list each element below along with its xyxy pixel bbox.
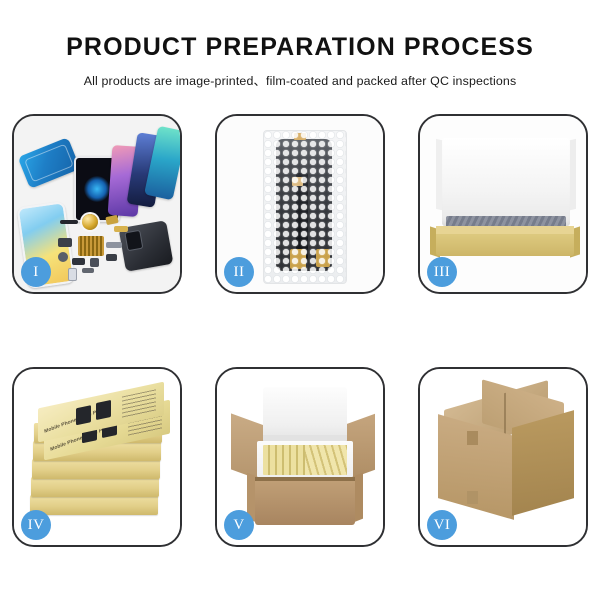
box-label-spec-lines — [122, 389, 156, 418]
part-camera-ring — [58, 252, 68, 262]
part-bracket-strip — [106, 242, 122, 248]
box-stack: Mobile Phone Spare Parts Mobile Phone Sp… — [28, 391, 170, 531]
step-panel-4[interactable]: Mobile Phone Spare Parts Mobile Phone Sp… — [12, 367, 182, 547]
bubble-texture — [264, 131, 346, 283]
step-badge-1: I — [21, 257, 51, 287]
carton-front-panel — [255, 477, 355, 525]
step-badge-5: V — [224, 510, 254, 540]
part-flex-strip — [60, 220, 78, 224]
part-connector — [72, 258, 85, 265]
part-speaker — [90, 258, 99, 267]
page-title: PRODUCT PREPARATION PROCESS — [0, 34, 600, 62]
part-sim-tray — [68, 268, 77, 281]
gold-coil-part — [82, 214, 98, 230]
step-badge-2: II — [224, 257, 254, 287]
header: PRODUCT PREPARATION PROCESS All products… — [0, 0, 600, 89]
step-panel-2[interactable]: II — [215, 114, 385, 294]
yellow-boxes-in-carton — [305, 445, 347, 475]
steps-grid: I II — [12, 114, 588, 547]
box-label-phone-image — [76, 405, 91, 425]
part-gold-bracket — [114, 226, 128, 232]
stacked-box — [30, 495, 158, 515]
carton-tape-upper — [467, 431, 478, 445]
product-preparation-process-infographic: PRODUCT PREPARATION PROCESS All products… — [0, 0, 600, 600]
step-panel-3[interactable]: III — [418, 114, 588, 294]
box-label-phone-image — [96, 400, 111, 420]
stacked-box — [32, 459, 160, 479]
carton-side-face — [512, 410, 574, 516]
step-badge-6: VI — [427, 510, 457, 540]
step-panel-5[interactable]: V — [215, 367, 385, 547]
blue-back-cover — [18, 137, 81, 189]
part-gold-clip — [105, 215, 118, 225]
gold-contact-pad — [78, 236, 104, 256]
carton-tape-lower — [467, 491, 478, 504]
part-module — [58, 238, 72, 247]
page-subtitle: All products are image-printed、film-coat… — [0, 71, 600, 89]
stacked-box — [31, 477, 159, 497]
step-badge-3: III — [427, 257, 457, 287]
foam-lid — [263, 387, 347, 441]
white-foam-lid — [442, 138, 570, 226]
step-panel-6[interactable]: VI — [418, 367, 588, 547]
part-small-flex — [82, 268, 94, 273]
yellow-tray-front — [436, 234, 574, 256]
step-badge-4: IV — [21, 510, 51, 540]
step-panel-1[interactable]: I — [12, 114, 182, 294]
part-chip — [106, 254, 117, 261]
bubble-wrap-bag — [263, 130, 347, 284]
